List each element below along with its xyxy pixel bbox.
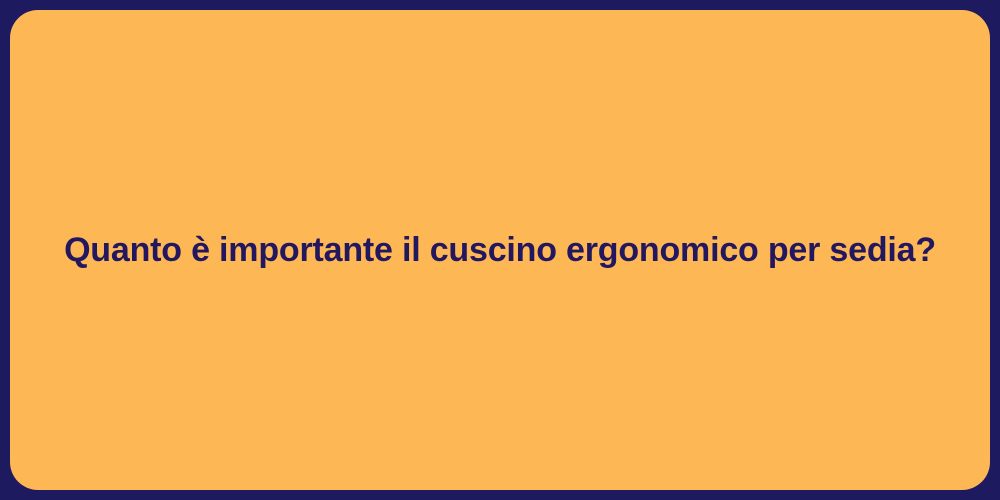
- content-card: Quanto è importante il cuscino ergonomic…: [10, 10, 990, 490]
- page-title: Quanto è importante il cuscino ergonomic…: [64, 229, 936, 272]
- page-frame: Quanto è importante il cuscino ergonomic…: [0, 0, 1000, 500]
